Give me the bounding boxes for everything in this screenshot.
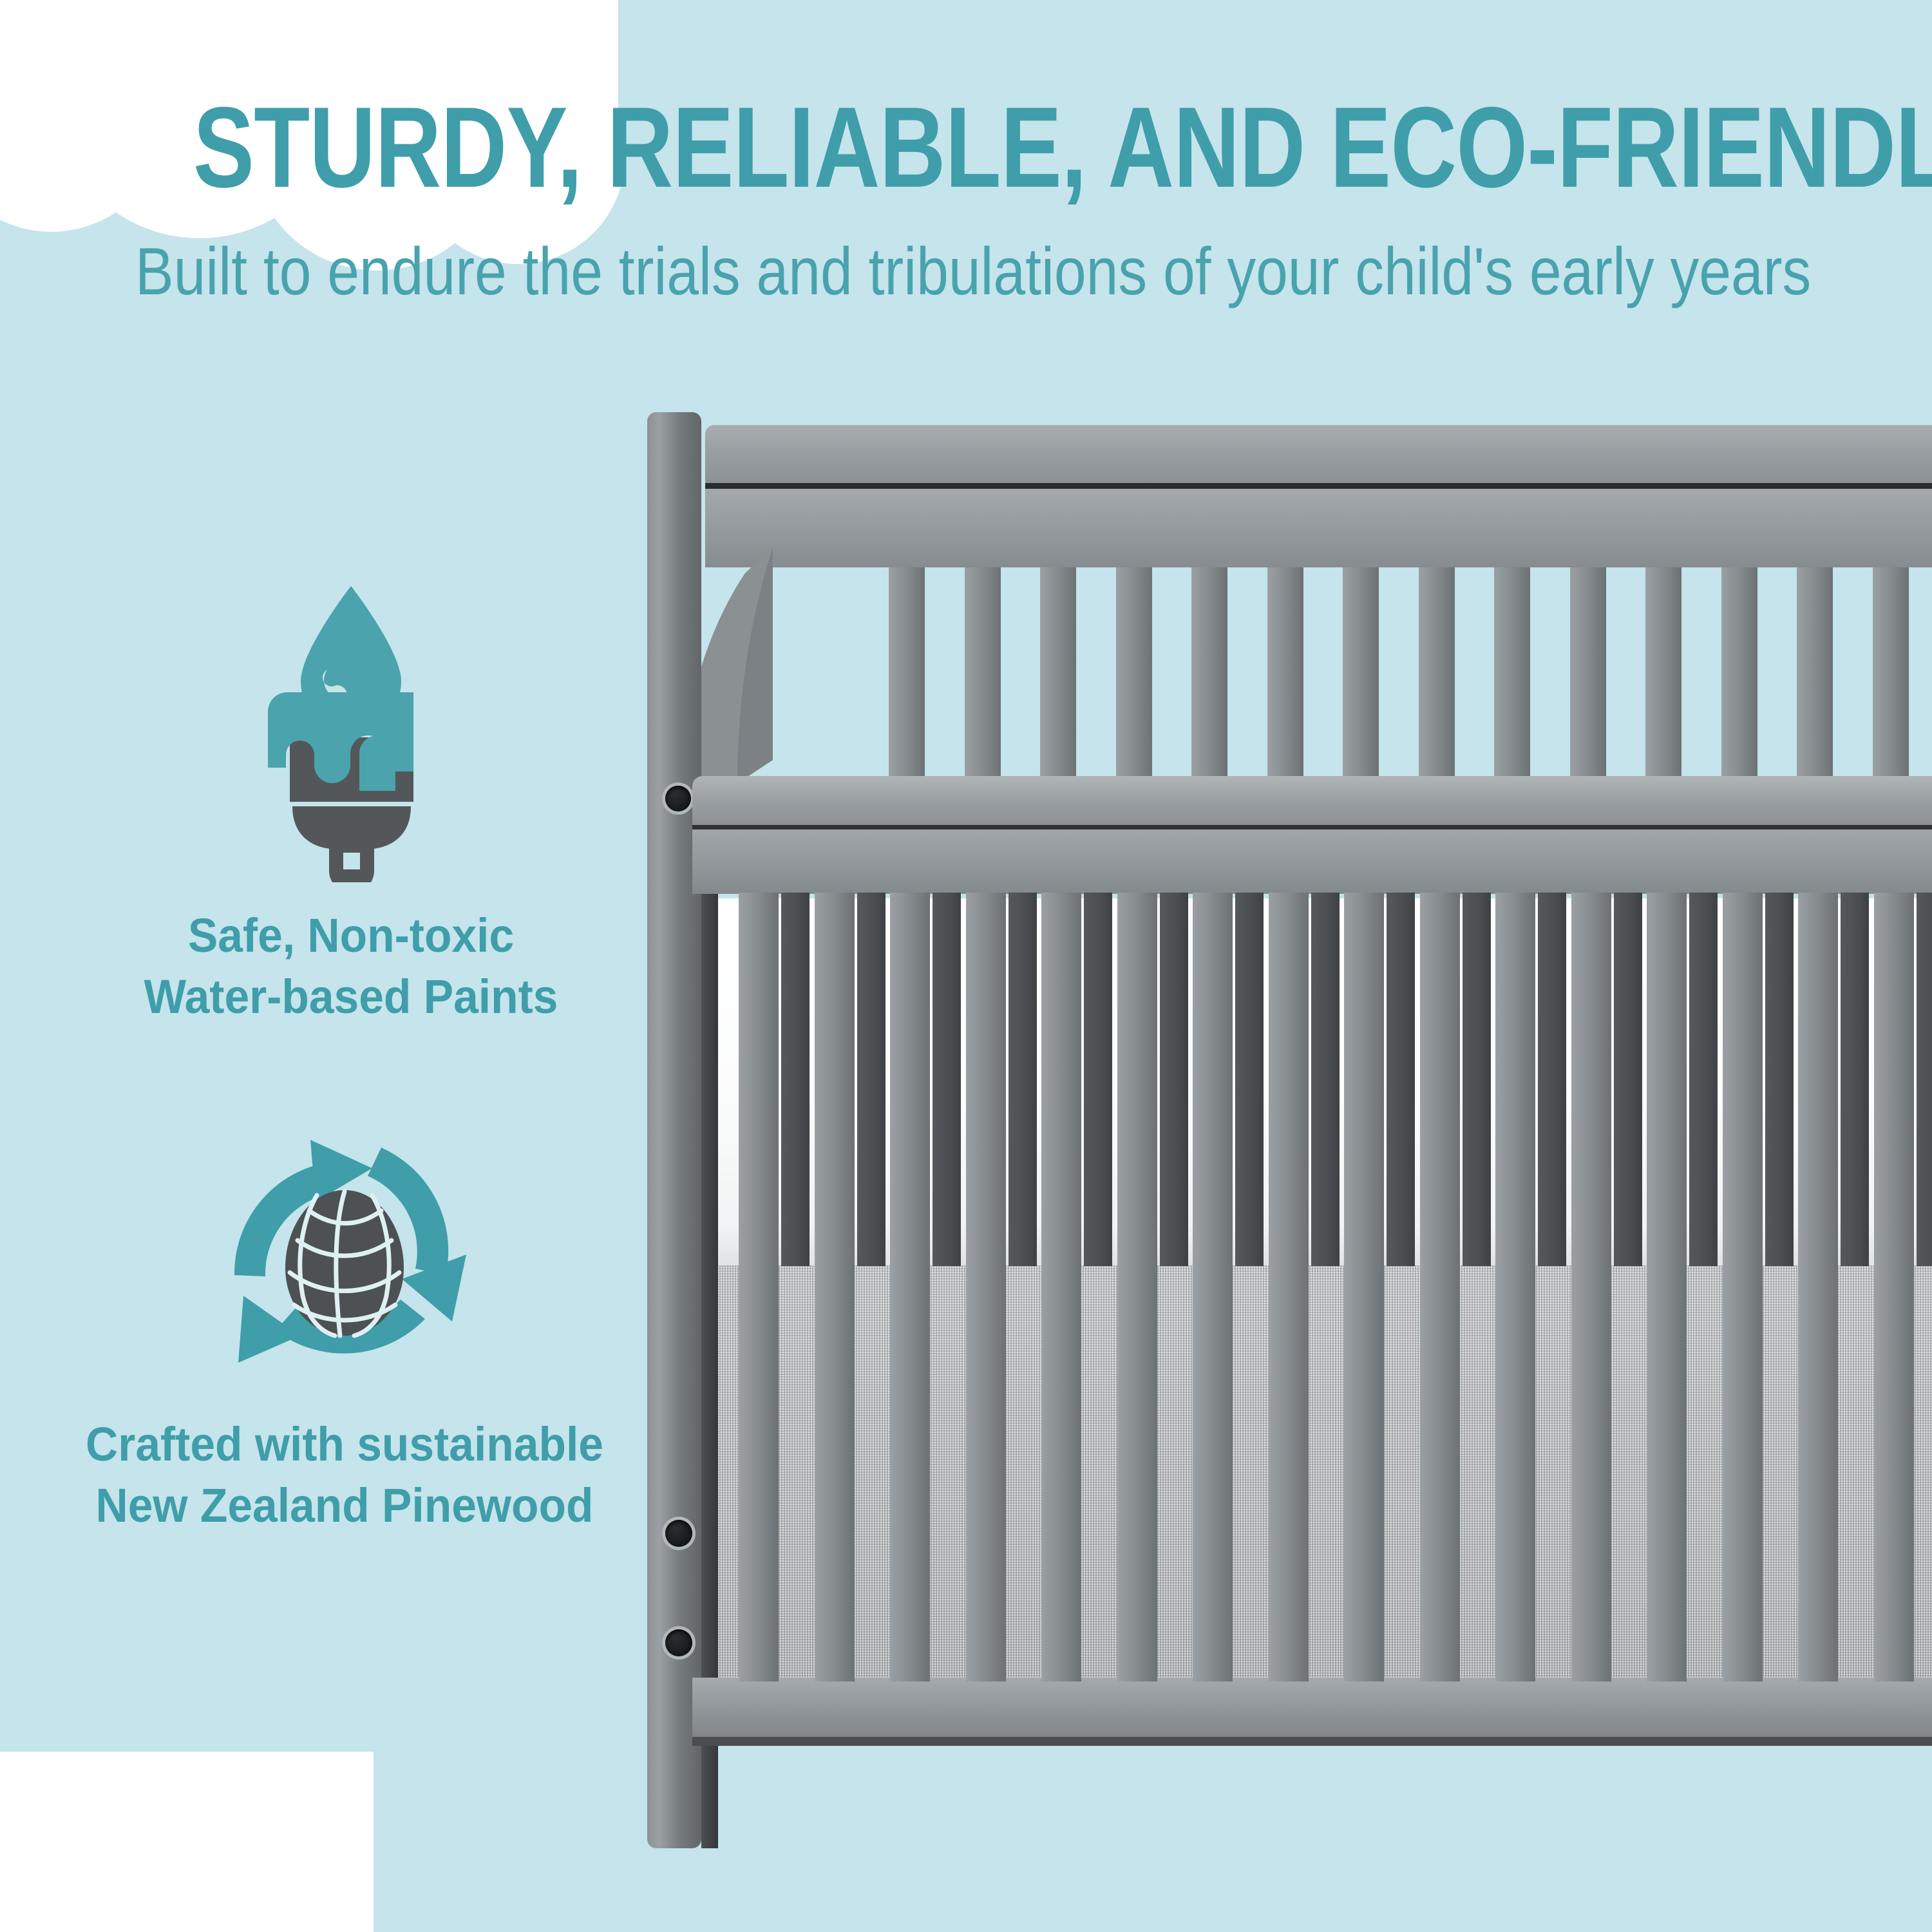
back-panel-slat bbox=[1160, 893, 1188, 1266]
mattress-height-hole-lower bbox=[665, 1629, 692, 1656]
front-rail-slats bbox=[699, 425, 1932, 1745]
back-panel-slat bbox=[1765, 893, 1794, 1266]
back-panel-slat bbox=[933, 893, 961, 1266]
feature-caption: Safe, Non-toxic Water-based Paints bbox=[33, 905, 669, 1027]
front-slat bbox=[966, 893, 1006, 1681]
page-title: STURDY, RELIABLE, AND ECO-FRIENDLY bbox=[193, 90, 1739, 205]
mattress-height-hole-upper bbox=[665, 1520, 692, 1547]
front-slat bbox=[1117, 893, 1157, 1681]
back-panel-slat bbox=[1689, 893, 1718, 1266]
front-slat bbox=[1798, 893, 1838, 1681]
paintbrush-water-drop-icon bbox=[13, 580, 689, 882]
front-slat bbox=[815, 893, 855, 1681]
convertible-crib bbox=[699, 425, 1932, 1880]
product-feature-banner: STURDY, RELIABLE, AND ECO-FRIENDLY Built… bbox=[0, 0, 1932, 1932]
recycle-pinecone-icon bbox=[6, 1108, 683, 1391]
back-panel-slat bbox=[1311, 893, 1340, 1266]
front-slat bbox=[1571, 893, 1611, 1681]
front-slat bbox=[1269, 893, 1309, 1681]
back-panel-slat bbox=[1538, 893, 1566, 1266]
back-panel-slat bbox=[857, 893, 885, 1266]
back-panel-slat bbox=[1387, 893, 1415, 1266]
back-panel-slat bbox=[1614, 893, 1642, 1266]
feature-caption-line1: Safe, Non-toxic bbox=[33, 905, 669, 967]
back-panel-slat bbox=[1235, 893, 1264, 1266]
back-panel-slat bbox=[1917, 893, 1932, 1266]
front-slat bbox=[739, 893, 779, 1681]
back-panel-slat bbox=[1084, 893, 1112, 1266]
front-slat bbox=[1723, 893, 1763, 1681]
front-slat bbox=[1344, 893, 1384, 1681]
mattress-height-screw bbox=[665, 786, 691, 811]
front-slat bbox=[1495, 893, 1535, 1681]
feature-caption-line1: Crafted with sustainable bbox=[27, 1414, 663, 1475]
front-slat bbox=[1041, 893, 1081, 1681]
front-slat bbox=[1647, 893, 1687, 1681]
feature-sustainable-wood: Crafted with sustainable New Zealand Pin… bbox=[6, 1108, 683, 1536]
bottom-rail bbox=[692, 1678, 1932, 1739]
back-panel-slat bbox=[1463, 893, 1491, 1266]
page-subtitle: Built to endure the trials and tribulati… bbox=[135, 238, 1797, 305]
cloud-bottom-left-icon bbox=[0, 1777, 477, 1932]
feature-caption-line2: New Zealand Pinewood bbox=[27, 1475, 663, 1537]
back-panel-slat bbox=[781, 893, 810, 1266]
back-panel-slat bbox=[1009, 893, 1037, 1266]
bottom-rail-shadow bbox=[692, 1737, 1932, 1746]
front-slat bbox=[1874, 893, 1914, 1681]
feature-safe-paints: Safe, Non-toxic Water-based Paints bbox=[13, 580, 689, 1027]
front-slat bbox=[890, 893, 930, 1681]
back-panel-slat bbox=[1841, 893, 1869, 1266]
front-slat bbox=[1420, 893, 1460, 1681]
feature-caption: Crafted with sustainable New Zealand Pin… bbox=[27, 1414, 663, 1536]
front-slat bbox=[1193, 893, 1233, 1681]
feature-caption-line2: Water-based Paints bbox=[33, 967, 669, 1028]
